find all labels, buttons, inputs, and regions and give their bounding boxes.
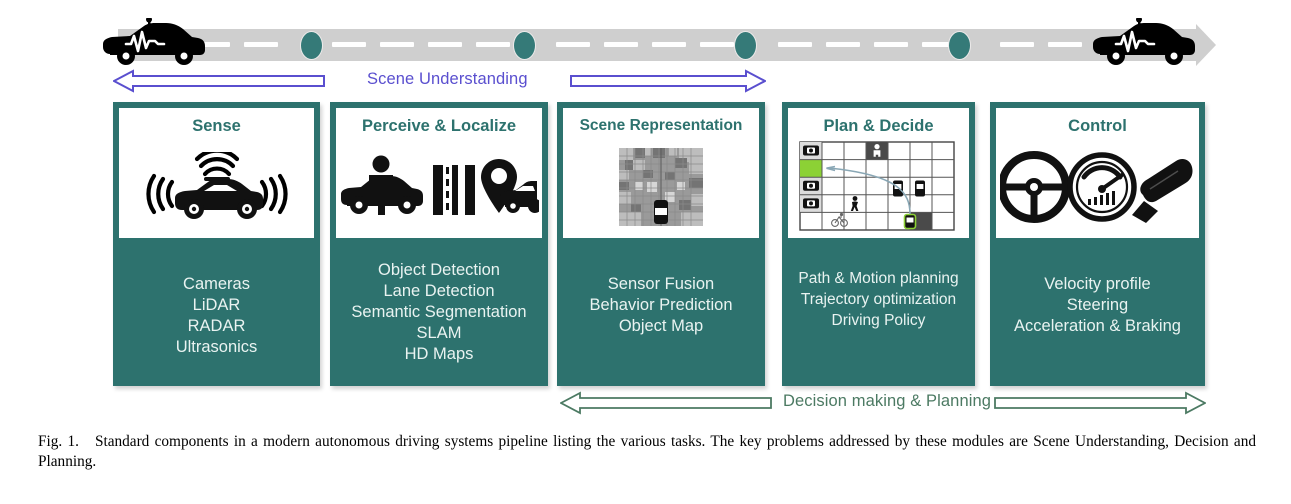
list-item: Path & Motion planning	[788, 268, 969, 289]
list-item: Trajectory optimization	[788, 289, 969, 310]
panel-sense-title: Sense	[192, 116, 241, 136]
panel-sense[interactable]: Sense	[113, 102, 320, 386]
list-item: HD Maps	[336, 344, 542, 365]
panel-perceive-localize-title: Perceive & Localize	[362, 116, 516, 136]
planning-grid-icon	[788, 136, 969, 238]
road-dash	[1000, 42, 1034, 47]
figure-caption: Fig. 1. Standard components in a modern …	[38, 432, 1256, 471]
list-item: Ultrasonics	[119, 337, 314, 358]
road-dash	[428, 42, 462, 47]
steering-wheel-icon	[1002, 155, 1066, 219]
list-item: SLAM	[336, 323, 542, 344]
pedal-foot-icon	[1132, 159, 1193, 223]
list-item: Object Detection	[336, 260, 542, 281]
perceive-icon-row	[336, 136, 542, 238]
pedestrian-and-car-icon	[341, 156, 423, 216]
car-with-sensor-waves-icon	[119, 136, 314, 238]
pipeline-stage-dot	[734, 31, 757, 60]
decision-planning-right-arrow	[994, 390, 1206, 421]
road-dash	[380, 42, 414, 47]
list-item: Behavior Prediction	[563, 295, 759, 316]
panel-scene-representation-title: Scene Representation	[580, 116, 743, 136]
panel-control-title: Control	[1068, 116, 1127, 136]
decision-making-planning-band: Decision making & Planning	[0, 390, 1291, 418]
panel-scene-representation-art-area: Scene Representation	[563, 108, 759, 238]
panel-perceive-localize[interactable]: Perceive & Localize	[330, 102, 548, 386]
scene-understanding-label: Scene Understanding	[367, 70, 528, 89]
panel-plan-decide-items: Path & Motion planning Trajectory optimi…	[788, 238, 969, 386]
scene-understanding-right-arrow	[570, 68, 766, 99]
panel-plan-decide[interactable]: Plan & Decide	[782, 102, 975, 386]
lane-road-icon	[433, 165, 475, 215]
list-item: LiDAR	[119, 295, 314, 316]
list-item: Lane Detection	[336, 281, 542, 302]
list-item: Steering	[996, 295, 1199, 316]
road-dash	[244, 42, 278, 47]
panel-plan-decide-title: Plan & Decide	[823, 116, 933, 136]
pipeline-stage-dot	[948, 31, 971, 60]
panel-scene-representation-items: Sensor Fusion Behavior Prediction Object…	[563, 238, 759, 386]
speedometer-icon	[1070, 155, 1134, 219]
panel-control[interactable]: Control	[990, 102, 1205, 386]
decision-making-planning-label: Decision making & Planning	[783, 392, 991, 411]
panel-control-art-area: Control	[996, 108, 1199, 238]
road-dash	[700, 42, 734, 47]
panel-sense-items: Cameras LiDAR RADAR Ultrasonics	[119, 238, 314, 386]
list-item: Acceleration & Braking	[996, 316, 1199, 337]
road-arrow-head	[1196, 24, 1216, 66]
list-item: Object Map	[563, 316, 759, 337]
scene-understanding-band: Scene Understanding	[0, 68, 1291, 96]
panel-perceive-localize-art-area: Perceive & Localize	[336, 108, 542, 238]
road-dash	[556, 42, 590, 47]
road-dash	[874, 42, 908, 47]
pipeline-stage-dot	[300, 31, 323, 60]
list-item: Driving Policy	[788, 310, 969, 331]
road-dash	[332, 42, 366, 47]
road-dash	[476, 42, 510, 47]
scene-understanding-left-arrow	[113, 68, 325, 99]
panel-control-items: Velocity profile Steering Acceleration &…	[996, 238, 1199, 386]
list-item: Semantic Segmentation	[336, 302, 542, 323]
occupancy-grid-icon	[563, 136, 759, 238]
pipeline-stage-dot	[513, 31, 536, 60]
road-dash	[1048, 42, 1082, 47]
road-dash	[826, 42, 860, 47]
panel-sense-art-area: Sense	[119, 108, 314, 238]
figure-graphic: Scene Understanding Sense	[0, 0, 1291, 424]
list-item: Velocity profile	[996, 274, 1199, 295]
road-dash	[778, 42, 812, 47]
decision-planning-left-arrow	[560, 390, 772, 421]
figure-number: Fig. 1.	[38, 433, 79, 450]
map-pin-and-car-icon	[481, 159, 539, 213]
panel-plan-decide-art-area: Plan & Decide	[788, 108, 969, 238]
road-dash	[604, 42, 638, 47]
panel-perceive-localize-items: Object Detection Lane Detection Semantic…	[336, 238, 542, 386]
self-driving-car-icon	[1090, 18, 1198, 73]
self-driving-car-icon	[100, 18, 208, 73]
control-icon-row	[996, 136, 1199, 238]
panel-scene-representation[interactable]: Scene Representation	[557, 102, 765, 386]
list-item: Sensor Fusion	[563, 274, 759, 295]
figure-caption-text: Standard components in a modern autonomo…	[38, 433, 1256, 470]
list-item: RADAR	[119, 316, 314, 337]
road-dash	[652, 42, 686, 47]
list-item: Cameras	[119, 274, 314, 295]
